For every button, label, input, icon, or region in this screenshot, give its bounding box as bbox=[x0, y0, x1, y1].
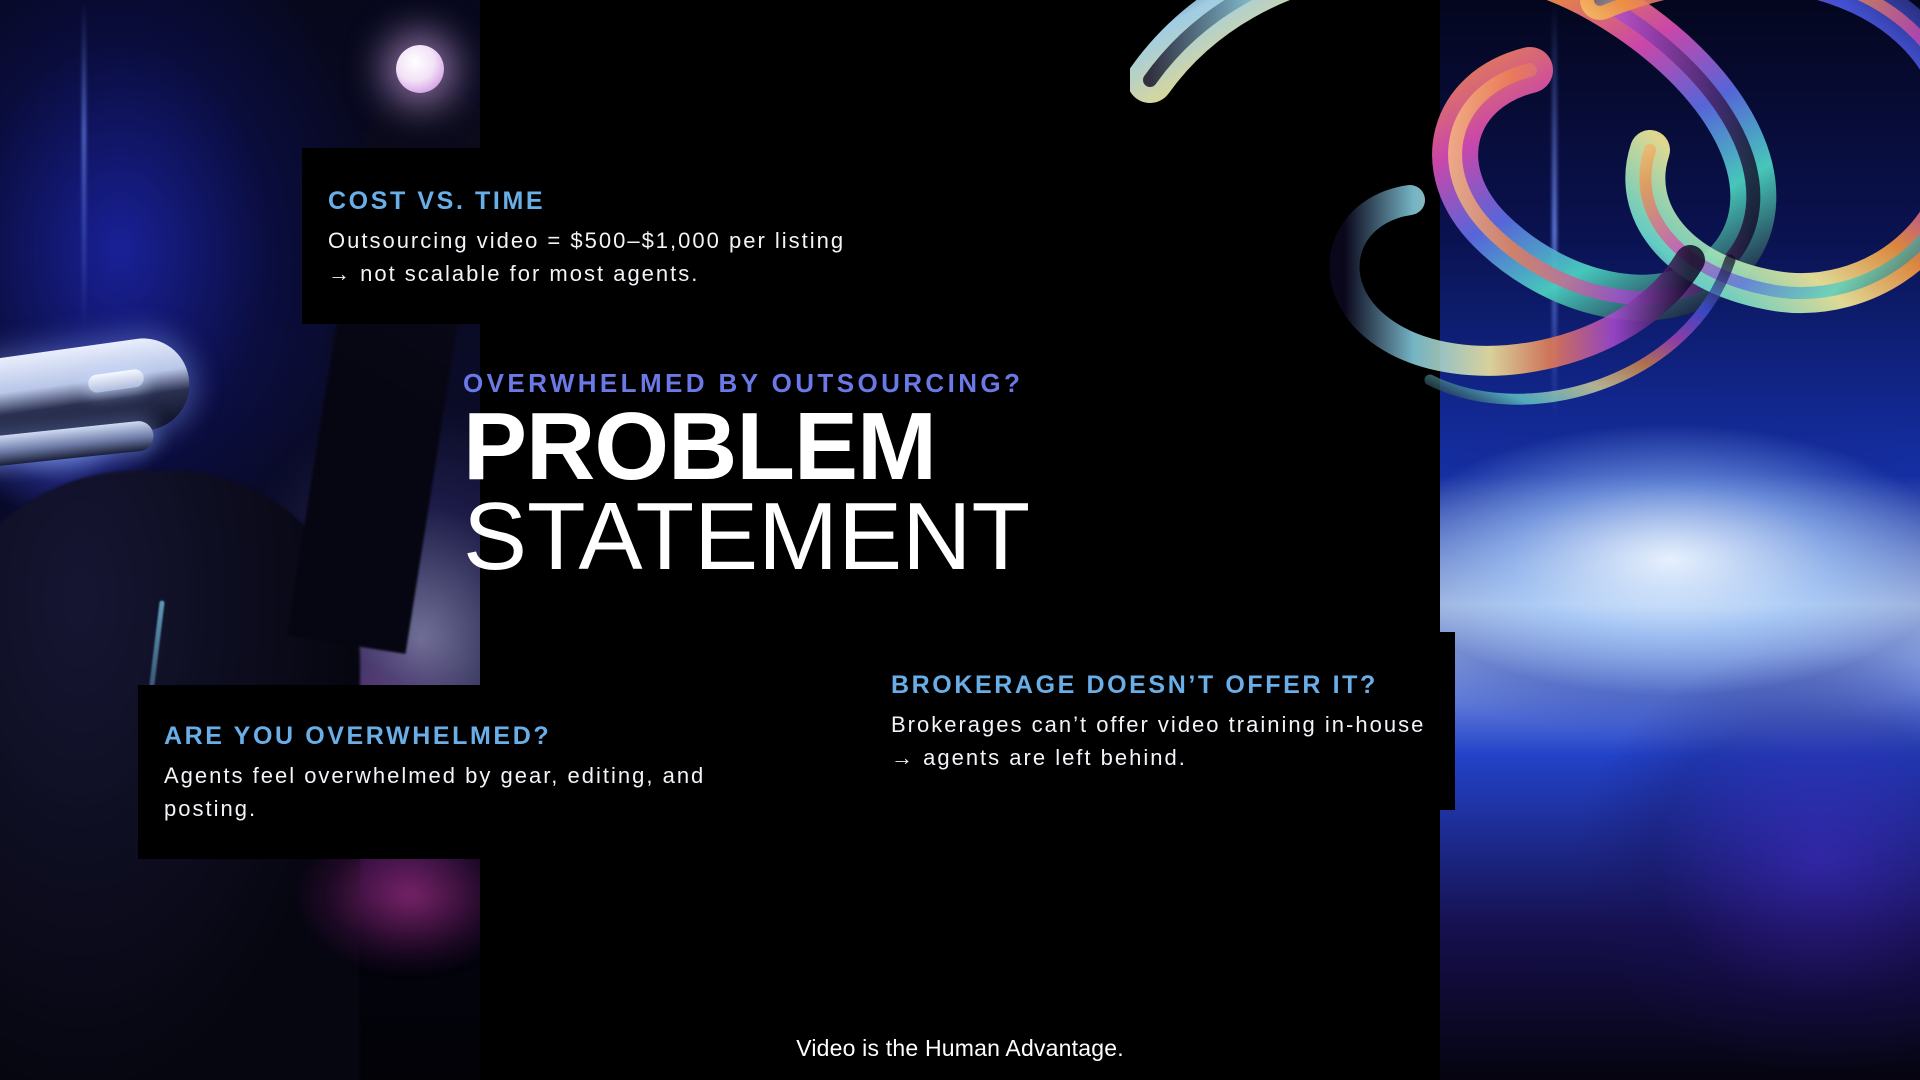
card-are-you-overwhelmed-title: ARE YOU OVERWHELMED? bbox=[164, 721, 742, 751]
card-cost-vs-time-title: COST VS. TIME bbox=[328, 186, 876, 216]
light-streak-decoration bbox=[82, 0, 86, 330]
card-are-you-overwhelmed-body: Agents feel overwhelmed by gear, editing… bbox=[164, 760, 742, 825]
vertical-light-streak bbox=[1552, 0, 1557, 420]
glowing-orb bbox=[396, 45, 444, 93]
right-photo-panel bbox=[1440, 0, 1920, 1080]
hero-heading-group: OVERWHELMED BY OUTSOURCING? PROBLEM STAT… bbox=[463, 368, 1103, 583]
hero-title-line-1: PROBLEM bbox=[463, 403, 1103, 491]
footer-tagline: Video is the Human Advantage. bbox=[0, 1035, 1920, 1062]
card-cost-vs-time-body: Outsourcing video = $500–$1,000 per list… bbox=[328, 225, 876, 290]
card-brokerage-doesnt-offer-it: BROKERAGE DOESN’T OFFER IT? Brokerages c… bbox=[865, 632, 1455, 810]
card-brokerage-body: Brokerages can’t offer video training in… bbox=[891, 709, 1429, 774]
hero-title-line-2: STATEMENT bbox=[463, 491, 1103, 582]
slide-canvas: COST VS. TIME Outsourcing video = $500–$… bbox=[0, 0, 1920, 1080]
card-brokerage-title: BROKERAGE DOESN’T OFFER IT? bbox=[891, 670, 1429, 700]
card-are-you-overwhelmed: ARE YOU OVERWHELMED? Agents feel overwhe… bbox=[138, 685, 768, 859]
card-cost-vs-time: COST VS. TIME Outsourcing video = $500–$… bbox=[302, 148, 902, 324]
